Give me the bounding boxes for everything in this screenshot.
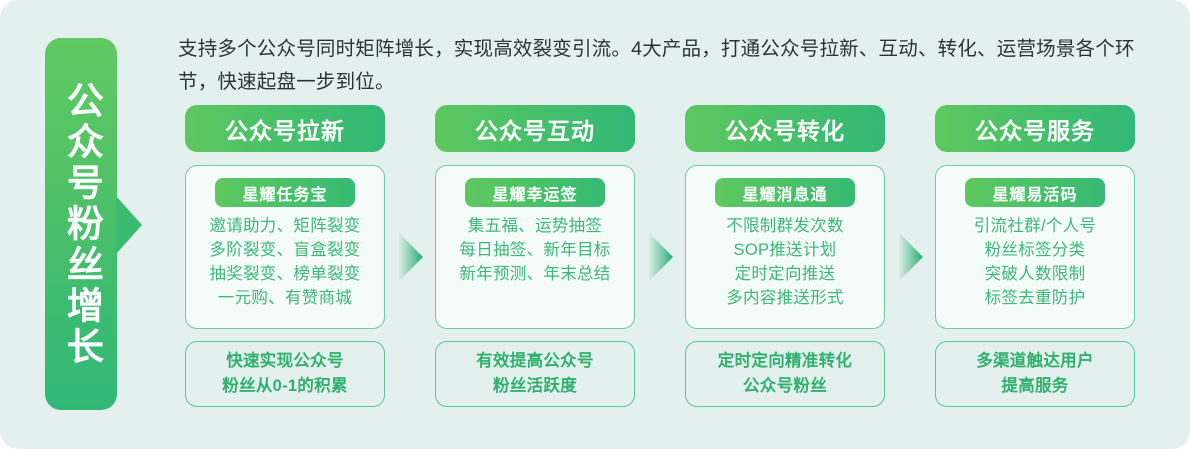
product-name-badge[interactable]: 星耀易活码 bbox=[965, 178, 1105, 207]
feature-item: 邀请助力、矩阵裂变 bbox=[209, 214, 360, 238]
outcome-line: 定时定向精准转化 bbox=[718, 349, 852, 374]
column-header-3[interactable]: 公众号转化 bbox=[685, 105, 885, 152]
product-name-badge[interactable]: 星耀任务宝 bbox=[215, 178, 355, 207]
feature-item: 多阶裂变、盲盒裂变 bbox=[209, 238, 360, 262]
outcome-line: 粉丝活跃度 bbox=[493, 374, 577, 399]
feature-list: 集五福、运势抽签每日抽签、新年目标新年预测、年末总结 bbox=[459, 214, 610, 286]
outcome-card: 快速实现公众号粉丝从0-1的积累 bbox=[185, 341, 385, 407]
outcome-line: 多渠道触达用户 bbox=[976, 349, 1094, 374]
column-header-4[interactable]: 公众号服务 bbox=[935, 105, 1135, 152]
feature-item: 粉丝标签分类 bbox=[974, 238, 1096, 262]
chevron-right-icon bbox=[899, 233, 923, 281]
feature-item: SOP推送计划 bbox=[726, 238, 844, 262]
feature-item: 抽奖裂变、榜单裂变 bbox=[209, 262, 360, 286]
product-name-badge[interactable]: 星耀消息通 bbox=[715, 178, 855, 207]
feature-item: 多内容推送形式 bbox=[726, 286, 844, 310]
outcome-line: 提高服务 bbox=[1001, 374, 1068, 399]
chevron-right-icon bbox=[649, 233, 673, 281]
feature-list: 不限制群发次数SOP推送计划定时定向推送多内容推送形式 bbox=[726, 214, 844, 310]
feature-item: 一元购、有赞商城 bbox=[209, 286, 360, 310]
outcome-line: 公众号粉丝 bbox=[743, 374, 827, 399]
product-name-badge[interactable]: 星耀幸运签 bbox=[465, 178, 605, 207]
feature-card: 星耀消息通不限制群发次数SOP推送计划定时定向推送多内容推送形式 bbox=[685, 165, 885, 329]
outcome-card: 多渠道触达用户提高服务 bbox=[935, 341, 1135, 407]
left-banner: 公众号粉丝增长 bbox=[45, 38, 117, 410]
infographic-canvas: 公众号粉丝增长 支持多个公众号同时矩阵增长，实现高效裂变引流。4大产品，打通公众… bbox=[0, 0, 1190, 449]
feature-card: 星耀任务宝邀请助力、矩阵裂变多阶裂变、盲盒裂变抽奖裂变、榜单裂变一元购、有赞商城 bbox=[185, 165, 385, 329]
product-column: 公众号服务星耀易活码引流社群/个人号粉丝标签分类突破人数限制标签去重防护多渠道触… bbox=[935, 105, 1135, 420]
column-header-1[interactable]: 公众号拉新 bbox=[185, 105, 385, 152]
columns-container: 公众号拉新星耀任务宝邀请助力、矩阵裂变多阶裂变、盲盒裂变抽奖裂变、榜单裂变一元购… bbox=[185, 105, 1145, 420]
product-column: 公众号拉新星耀任务宝邀请助力、矩阵裂变多阶裂变、盲盒裂变抽奖裂变、榜单裂变一元购… bbox=[185, 105, 385, 420]
feature-item: 定时定向推送 bbox=[726, 262, 844, 286]
feature-item: 新年预测、年末总结 bbox=[459, 262, 610, 286]
feature-item: 每日抽签、新年目标 bbox=[459, 238, 610, 262]
feature-item: 引流社群/个人号 bbox=[974, 214, 1096, 238]
outcome-card: 定时定向精准转化公众号粉丝 bbox=[685, 341, 885, 407]
feature-item: 标签去重防护 bbox=[974, 286, 1096, 310]
feature-item: 突破人数限制 bbox=[974, 262, 1096, 286]
feature-card: 星耀易活码引流社群/个人号粉丝标签分类突破人数限制标签去重防护 bbox=[935, 165, 1135, 329]
feature-card: 星耀幸运签集五福、运势抽签每日抽签、新年目标新年预测、年末总结 bbox=[435, 165, 635, 329]
column-header-2[interactable]: 公众号互动 bbox=[435, 105, 635, 152]
left-banner-label: 公众号粉丝增长 bbox=[62, 81, 101, 368]
outcome-line: 有效提高公众号 bbox=[476, 349, 594, 374]
feature-list: 邀请助力、矩阵裂变多阶裂变、盲盒裂变抽奖裂变、榜单裂变一元购、有赞商城 bbox=[209, 214, 360, 310]
product-column: 公众号转化星耀消息通不限制群发次数SOP推送计划定时定向推送多内容推送形式定时定… bbox=[685, 105, 885, 420]
product-column: 公众号互动星耀幸运签集五福、运势抽签每日抽签、新年目标新年预测、年末总结有效提高… bbox=[435, 105, 635, 420]
outcome-line: 粉丝从0-1的积累 bbox=[222, 374, 348, 399]
outcome-card: 有效提高公众号粉丝活跃度 bbox=[435, 341, 635, 407]
feature-list: 引流社群/个人号粉丝标签分类突破人数限制标签去重防护 bbox=[974, 214, 1096, 310]
banner-right-arrow-icon bbox=[116, 196, 142, 254]
feature-item: 集五福、运势抽签 bbox=[459, 214, 610, 238]
chevron-right-icon bbox=[399, 233, 423, 281]
feature-item: 不限制群发次数 bbox=[726, 214, 844, 238]
intro-paragraph: 支持多个公众号同时矩阵增长，实现高效裂变引流。4大产品，打通公众号拉新、互动、转… bbox=[178, 33, 1163, 99]
outcome-line: 快速实现公众号 bbox=[226, 349, 344, 374]
